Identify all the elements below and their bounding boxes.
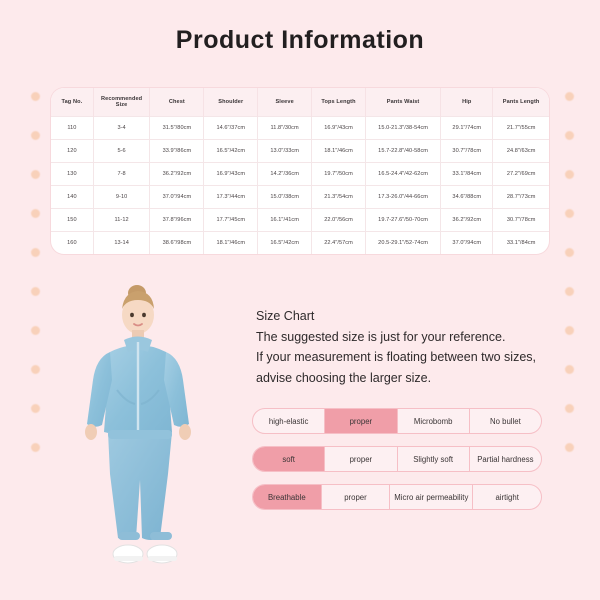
scale-bar-softness: soft proper Slightly soft Partial hardne… [252, 446, 542, 472]
decoration-dot [31, 248, 40, 257]
cell-pants-waist: 20.5-29.1"/52-74cm [365, 232, 440, 255]
cell-shoulder: 16.9"/43cm [204, 163, 258, 186]
decoration-dot [565, 404, 574, 413]
decoration-dot [565, 248, 574, 257]
decoration-dot [565, 92, 574, 101]
cell-sleeve: 13.0"/33cm [258, 140, 312, 163]
column-header-pants-length: Pants Length [493, 88, 549, 117]
decoration-dot [31, 131, 40, 140]
cell-pants-waist: 19.7-27.6"/50-70cm [365, 209, 440, 232]
scale-segment-slightly-soft[interactable]: Slightly soft [398, 447, 470, 471]
cell-pants-length: 24.8"/63cm [493, 140, 549, 163]
column-header-pants-waist: Pants Waist [365, 88, 440, 117]
cell-tops-length: 16.9"/43cm [312, 117, 366, 140]
decoration-dot [31, 443, 40, 452]
scale-segment-proper[interactable]: proper [322, 485, 391, 509]
cell-tag-no: 160 [51, 232, 93, 255]
cell-sleeve: 11.8"/30cm [258, 117, 312, 140]
cell-chest: 36.2"/92cm [150, 163, 204, 186]
cell-hip: 29.1"/74cm [441, 117, 493, 140]
cell-pants-length: 21.7"/55cm [493, 117, 549, 140]
cell-tops-length: 22.0"/56cm [312, 209, 366, 232]
cell-tops-length: 19.7"/50cm [312, 163, 366, 186]
table-row: 130 7-8 36.2"/92cm 16.9"/43cm 14.2"/36cm… [51, 163, 549, 186]
column-header-recommended-size: Recommended Size [93, 88, 150, 117]
decoration-dot [565, 443, 574, 452]
cell-recommended: 13-14 [93, 232, 150, 255]
column-header-chest: Chest [150, 88, 204, 117]
scale-bar-breathability: Breathable proper Micro air permeability… [252, 484, 542, 510]
decorative-dot-column-right [562, 92, 576, 452]
cell-chest: 33.9"/86cm [150, 140, 204, 163]
size-chart-note: Size Chart The suggested size is just fo… [256, 306, 576, 388]
cell-shoulder: 16.5"/42cm [204, 140, 258, 163]
decoration-dot [31, 92, 40, 101]
cell-recommended: 5-6 [93, 140, 150, 163]
column-header-tops-length: Tops Length [312, 88, 366, 117]
scale-segment-micro-air-permeability[interactable]: Micro air permeability [390, 485, 473, 509]
cell-pants-length: 33.1"/84cm [493, 232, 549, 255]
decoration-dot [565, 131, 574, 140]
cell-tag-no: 140 [51, 186, 93, 209]
cell-hip: 36.2"/92cm [441, 209, 493, 232]
table-row: 120 5-6 33.9"/86cm 16.5"/42cm 13.0"/33cm… [51, 140, 549, 163]
size-chart-heading: Size Chart [256, 306, 576, 327]
page-title: Product Information [0, 26, 600, 55]
size-chart-line-1: The suggested size is just for your refe… [256, 327, 576, 348]
scale-bar-elasticity: high-elastic proper Microbomb No bullet [252, 408, 542, 434]
cell-chest: 31.5"/80cm [150, 117, 204, 140]
column-header-hip: Hip [441, 88, 493, 117]
cell-sleeve: 16.1"/41cm [258, 209, 312, 232]
scale-segment-soft[interactable]: soft [253, 447, 325, 471]
cell-shoulder: 14.6"/37cm [204, 117, 258, 140]
scale-segment-microbomb[interactable]: Microbomb [398, 409, 470, 433]
cell-pants-waist: 15.0-21.3"/38-54cm [365, 117, 440, 140]
cell-tops-length: 18.1"/46cm [312, 140, 366, 163]
cell-pants-length: 30.7"/78cm [493, 209, 549, 232]
cell-recommended: 7-8 [93, 163, 150, 186]
property-scales: high-elastic proper Microbomb No bullet … [252, 408, 542, 522]
cell-pants-length: 27.2"/69cm [493, 163, 549, 186]
decoration-dot [31, 287, 40, 296]
product-model-photo [62, 282, 248, 578]
cell-tag-no: 110 [51, 117, 93, 140]
column-header-tag-no: Tag No. [51, 88, 93, 117]
scale-segment-proper[interactable]: proper [325, 409, 397, 433]
table-row: 160 13-14 38.6"/98cm 18.1"/46cm 16.5"/42… [51, 232, 549, 255]
decoration-dot [565, 170, 574, 179]
cell-recommended: 9-10 [93, 186, 150, 209]
decorative-dot-column-left [28, 92, 42, 452]
size-table: Tag No. Recommended Size Chest Shoulder … [51, 88, 549, 254]
cell-shoulder: 18.1"/46cm [204, 232, 258, 255]
cell-tag-no: 130 [51, 163, 93, 186]
scale-segment-proper[interactable]: proper [325, 447, 397, 471]
cell-sleeve: 16.5"/42cm [258, 232, 312, 255]
cell-pants-waist: 16.5-24.4"/42-62cm [365, 163, 440, 186]
cell-tag-no: 120 [51, 140, 93, 163]
table-row: 110 3-4 31.5"/80cm 14.6"/37cm 11.8"/30cm… [51, 117, 549, 140]
column-header-sleeve: Sleeve [258, 88, 312, 117]
table-row: 140 9-10 37.0"/94cm 17.3"/44cm 15.0"/38c… [51, 186, 549, 209]
cell-hip: 34.6"/88cm [441, 186, 493, 209]
scale-segment-no-bullet[interactable]: No bullet [470, 409, 541, 433]
table-header-row: Tag No. Recommended Size Chest Shoulder … [51, 88, 549, 117]
cell-tops-length: 22.4"/57cm [312, 232, 366, 255]
cell-pants-length: 28.7"/73cm [493, 186, 549, 209]
scale-segment-high-elastic[interactable]: high-elastic [253, 409, 325, 433]
decoration-dot [565, 287, 574, 296]
scale-segment-breathable[interactable]: Breathable [253, 485, 322, 509]
decoration-dot [31, 365, 40, 374]
scale-segment-partial-hardness[interactable]: Partial hardness [470, 447, 541, 471]
cell-recommended: 11-12 [93, 209, 150, 232]
decoration-dot [31, 326, 40, 335]
size-chart-line-3: advise choosing the larger size. [256, 368, 576, 389]
decoration-dot [31, 209, 40, 218]
cell-shoulder: 17.7"/45cm [204, 209, 258, 232]
cell-sleeve: 15.0"/38cm [258, 186, 312, 209]
cell-tag-no: 150 [51, 209, 93, 232]
table-row: 150 11-12 37.8"/96cm 17.7"/45cm 16.1"/41… [51, 209, 549, 232]
cell-shoulder: 17.3"/44cm [204, 186, 258, 209]
cell-recommended: 3-4 [93, 117, 150, 140]
cell-pants-waist: 17.3-26.0"/44-66cm [365, 186, 440, 209]
cell-hip: 30.7"/78cm [441, 140, 493, 163]
cell-hip: 37.0"/94cm [441, 232, 493, 255]
decoration-dot [31, 404, 40, 413]
cell-hip: 33.1"/84cm [441, 163, 493, 186]
cell-pants-waist: 15.7-22.8"/40-58cm [365, 140, 440, 163]
cell-sleeve: 14.2"/36cm [258, 163, 312, 186]
decoration-dot [31, 170, 40, 179]
scale-segment-airtight[interactable]: airtight [473, 485, 541, 509]
column-header-shoulder: Shoulder [204, 88, 258, 117]
cell-chest: 38.6"/98cm [150, 232, 204, 255]
size-table-container: Tag No. Recommended Size Chest Shoulder … [51, 88, 549, 254]
cell-chest: 37.8"/96cm [150, 209, 204, 232]
size-chart-line-2: If your measurement is floating between … [256, 347, 576, 368]
decoration-dot [565, 209, 574, 218]
cell-tops-length: 21.3"/54cm [312, 186, 366, 209]
cell-chest: 37.0"/94cm [150, 186, 204, 209]
